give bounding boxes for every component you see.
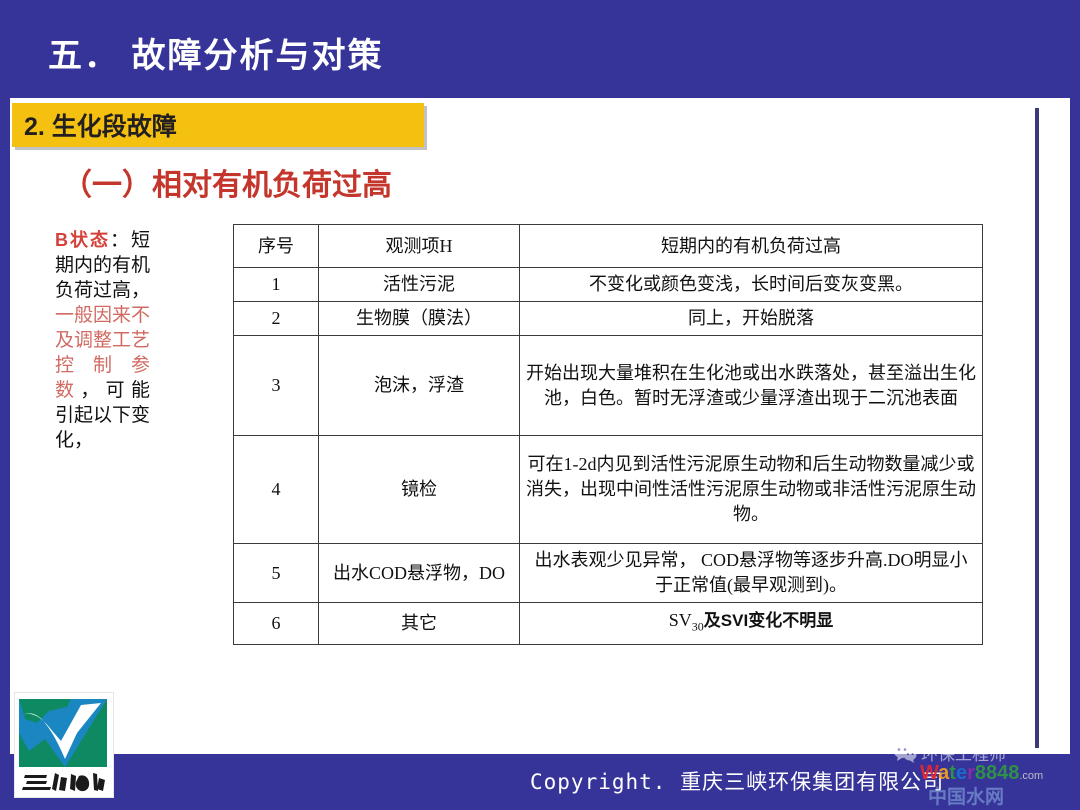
table-row: 2 生物膜（膜法） 同上，开始脱落	[234, 302, 983, 336]
footer-copyright: Copyright. 重庆三峡环保集团有限公司	[530, 766, 944, 796]
header-cell-item: 观测项H	[319, 225, 520, 268]
water-cn-watermark: 中国水网	[928, 782, 1004, 809]
row-item: 其它	[319, 603, 520, 645]
three-gorges-logo-icon	[15, 693, 111, 795]
row-desc: 出水表观少见异常， COD悬浮物等逐步升高.DO明显小于正常值(最早观测到)。	[520, 544, 983, 603]
slide-canvas: 五． 故障分析与对策 2. 生化段故障 （一）相对有机负荷过高 B状态：短期内的…	[0, 0, 1080, 810]
row-item: 生物膜（膜法）	[319, 302, 520, 336]
page-title: 五． 故障分析与对策	[48, 28, 383, 77]
row-no: 2	[234, 302, 319, 336]
row-no: 3	[234, 336, 319, 436]
row-no: 6	[234, 603, 319, 645]
section-banner-label: 2. 生化段故障	[12, 107, 177, 143]
row-item: 出水COD悬浮物，DO	[319, 544, 520, 603]
wm-letter-a: a	[938, 762, 949, 784]
row-item: 镜检	[319, 436, 520, 544]
table-row: 5 出水COD悬浮物，DO 出水表观少见异常， COD悬浮物等逐步升高.DO明显…	[234, 544, 983, 603]
sv-prefix: SV	[669, 610, 692, 630]
row-desc: 可在1-2d内见到活性污泥原生动物和后生动物数量减少或消失，出现中间性活性污泥原…	[520, 436, 983, 544]
observation-table-wrapper: 序号 观测项H 短期内的有机负荷过高 1 活性污泥 不变化或颜色变浅，长时间后变…	[233, 224, 943, 645]
wm-letter-e: e	[956, 762, 967, 784]
left-note-lead: B状态	[55, 230, 110, 250]
wm-letter-t: t	[949, 762, 956, 784]
row-item: 泡沫，浮渣	[319, 336, 520, 436]
company-logo	[14, 692, 114, 798]
row-desc-sv: SV30及SVI变化不明显	[520, 603, 983, 645]
sub-heading: （一）相对有机负荷过高	[62, 160, 392, 204]
row-desc: 不变化或颜色变浅，长时间后变灰变黑。	[520, 268, 983, 302]
table-row: 6 其它 SV30及SVI变化不明显	[234, 603, 983, 645]
row-item: 活性污泥	[319, 268, 520, 302]
header-cell-desc: 短期内的有机负荷过高	[520, 225, 983, 268]
sv-suffix: 及SVI变化不明显	[704, 611, 833, 630]
row-no: 4	[234, 436, 319, 544]
left-rail	[0, 98, 10, 810]
observation-table: 序号 观测项H 短期内的有机负荷过高 1 活性污泥 不变化或颜色变浅，长时间后变…	[233, 224, 983, 645]
table-row: 4 镜检 可在1-2d内见到活性污泥原生动物和后生动物数量减少或消失，出现中间性…	[234, 436, 983, 544]
section-banner: 2. 生化段故障	[12, 103, 424, 147]
row-desc: 开始出现大量堆积在生化池或出水跌落处，甚至溢出生化池，白色。暂时无浮渣或少量浮渣…	[520, 336, 983, 436]
wm-dotcom: .com	[1019, 770, 1043, 782]
left-note-block: B状态：短期内的有机负荷过高，一般因来不及调整工艺控制参数，可能引起以下变化，	[55, 228, 150, 453]
right-rail	[1070, 98, 1080, 810]
wm-number: 8848	[975, 762, 1020, 784]
wm-letter-w: W	[920, 762, 938, 784]
row-no: 5	[234, 544, 319, 603]
wechat-icon	[893, 743, 917, 763]
header-cell-no: 序号	[234, 225, 319, 268]
sv-subscript: 30	[692, 619, 704, 633]
table-row: 1 活性污泥 不变化或颜色变浅，长时间后变灰变黑。	[234, 268, 983, 302]
wm-letter-r: r	[967, 762, 975, 784]
row-desc: 同上，开始脱落	[520, 302, 983, 336]
row-no: 1	[234, 268, 319, 302]
table-row: 3 泡沫，浮渣 开始出现大量堆积在生化池或出水跌落处，甚至溢出生化池，白色。暂时…	[234, 336, 983, 436]
vertical-divider-line	[1035, 108, 1039, 748]
table-header-row: 序号 观测项H 短期内的有机负荷过高	[234, 225, 983, 268]
